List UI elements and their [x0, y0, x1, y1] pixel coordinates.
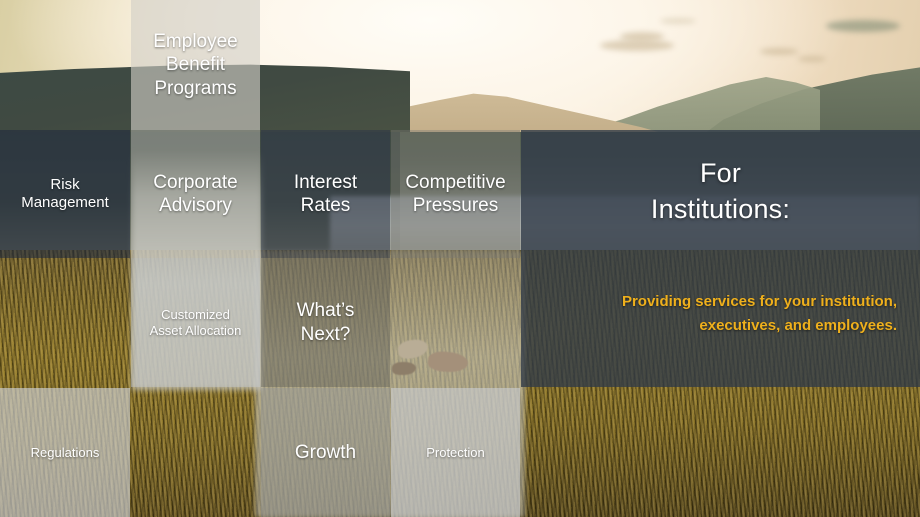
cloud: [760, 48, 798, 55]
tile-label-line: Growth: [295, 441, 356, 464]
panel-title-line-1: For: [521, 156, 920, 192]
tile-whats-next[interactable]: What’sNext?: [261, 258, 390, 387]
tile-label: Growth: [295, 441, 356, 464]
tile-label: CorporateAdvisory: [153, 171, 238, 217]
tile-label-line: Programs: [153, 77, 238, 100]
tile-label: Protection: [426, 445, 485, 461]
tile-label-line: Next?: [297, 323, 355, 346]
tile-employee-benefit-programs[interactable]: EmployeeBenefitPrograms: [131, 0, 260, 130]
tile-regulations[interactable]: Regulations: [0, 388, 130, 517]
tile-growth[interactable]: Growth: [261, 388, 390, 517]
panel-title: For Institutions:: [521, 156, 920, 227]
tile-label-line: Rates: [294, 194, 357, 217]
tile-label: CompetitivePressures: [405, 171, 505, 217]
tile-label-line: Competitive: [405, 171, 505, 194]
panel-subtitle-line-2: executives, and employees.: [567, 314, 897, 338]
tile-label-line: Employee: [153, 30, 238, 53]
tile-label: Regulations: [31, 445, 100, 461]
tile-interest-rates[interactable]: InterestRates: [261, 130, 390, 258]
tile-label: EmployeeBenefitPrograms: [153, 30, 238, 100]
tile-label-line: What’s: [297, 299, 355, 322]
cloud: [600, 40, 674, 51]
panel-subtitle: Providing services for your institution,…: [567, 290, 897, 339]
panel-subtitle-line-1: Providing services for your institution,: [567, 290, 897, 314]
tile-risk-management[interactable]: RiskManagement: [0, 130, 130, 258]
tile-label-line: Corporate: [153, 171, 238, 194]
institutions-panel: For Institutions: Providing services for…: [521, 130, 920, 387]
tile-label-line: Pressures: [405, 194, 505, 217]
cloud: [826, 20, 900, 32]
tile-label-line: Management: [21, 194, 109, 212]
tile-protection[interactable]: Protection: [391, 388, 520, 517]
tile-label-line: Risk: [21, 176, 109, 194]
tile-label-line: Asset Allocation: [150, 323, 242, 339]
tile-label: CustomizedAsset Allocation: [150, 307, 242, 339]
tile-label-line: Advisory: [153, 194, 238, 217]
tile-label: RiskManagement: [21, 176, 109, 213]
cloud: [798, 56, 826, 62]
tile-label-line: Customized: [150, 307, 242, 323]
slide-canvas: EmployeeBenefitProgramsRiskManagementCor…: [0, 0, 920, 517]
tile-customized-asset-allocation[interactable]: CustomizedAsset Allocation: [131, 258, 260, 387]
cloud: [620, 32, 664, 41]
tile-label-line: Protection: [426, 445, 485, 461]
tile-label: What’sNext?: [297, 299, 355, 345]
cloud: [660, 18, 696, 24]
tile-label-line: Regulations: [31, 445, 100, 461]
panel-title-line-2: Institutions:: [521, 192, 920, 228]
tile-competitive-pressures[interactable]: CompetitivePressures: [391, 130, 520, 258]
tile-label-line: Interest: [294, 171, 357, 194]
tile-corporate-advisory[interactable]: CorporateAdvisory: [131, 130, 260, 258]
tile-label-line: Benefit: [153, 53, 238, 76]
tile-label: InterestRates: [294, 171, 357, 217]
